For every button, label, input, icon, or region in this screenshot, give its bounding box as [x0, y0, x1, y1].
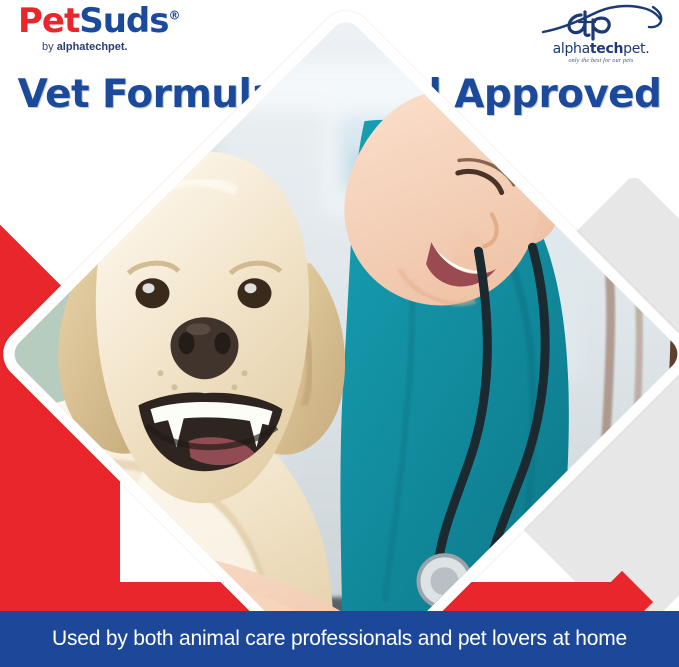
petsuds-byline-name: alphatechpet.	[57, 41, 128, 53]
alphatechpet-name-tech: tech	[590, 41, 623, 57]
promo-image-canvas: PetSuds® by alphatechpet. alphatechpet. …	[0, 0, 679, 667]
hero-graphic	[0, 112, 679, 612]
alphatechpet-name-alpha: alpha	[553, 41, 590, 57]
petsuds-byline: by alphatechpet.	[42, 41, 218, 53]
banner-text: Used by both animal care professionals a…	[52, 627, 627, 651]
alphatechpet-tagline: only the best for our pets	[535, 58, 667, 64]
petsuds-byline-prefix: by	[42, 41, 57, 53]
alphatechpet-logo: alphatechpet. only the best for our pets	[535, 2, 667, 72]
registered-trademark-icon: ®	[169, 9, 180, 23]
petsuds-logo: PetSuds® by alphatechpet.	[18, 4, 218, 56]
alphatechpet-name: alphatechpet.	[535, 42, 667, 56]
atp-swoosh-icon	[535, 2, 667, 42]
alphatechpet-name-pet: pet.	[623, 41, 649, 57]
bottom-banner: Used by both animal care professionals a…	[0, 611, 679, 667]
petsuds-word-pet: Pet	[18, 1, 79, 41]
petsuds-word-suds: Suds	[79, 1, 168, 41]
petsuds-wordmark: PetSuds®	[18, 4, 218, 38]
